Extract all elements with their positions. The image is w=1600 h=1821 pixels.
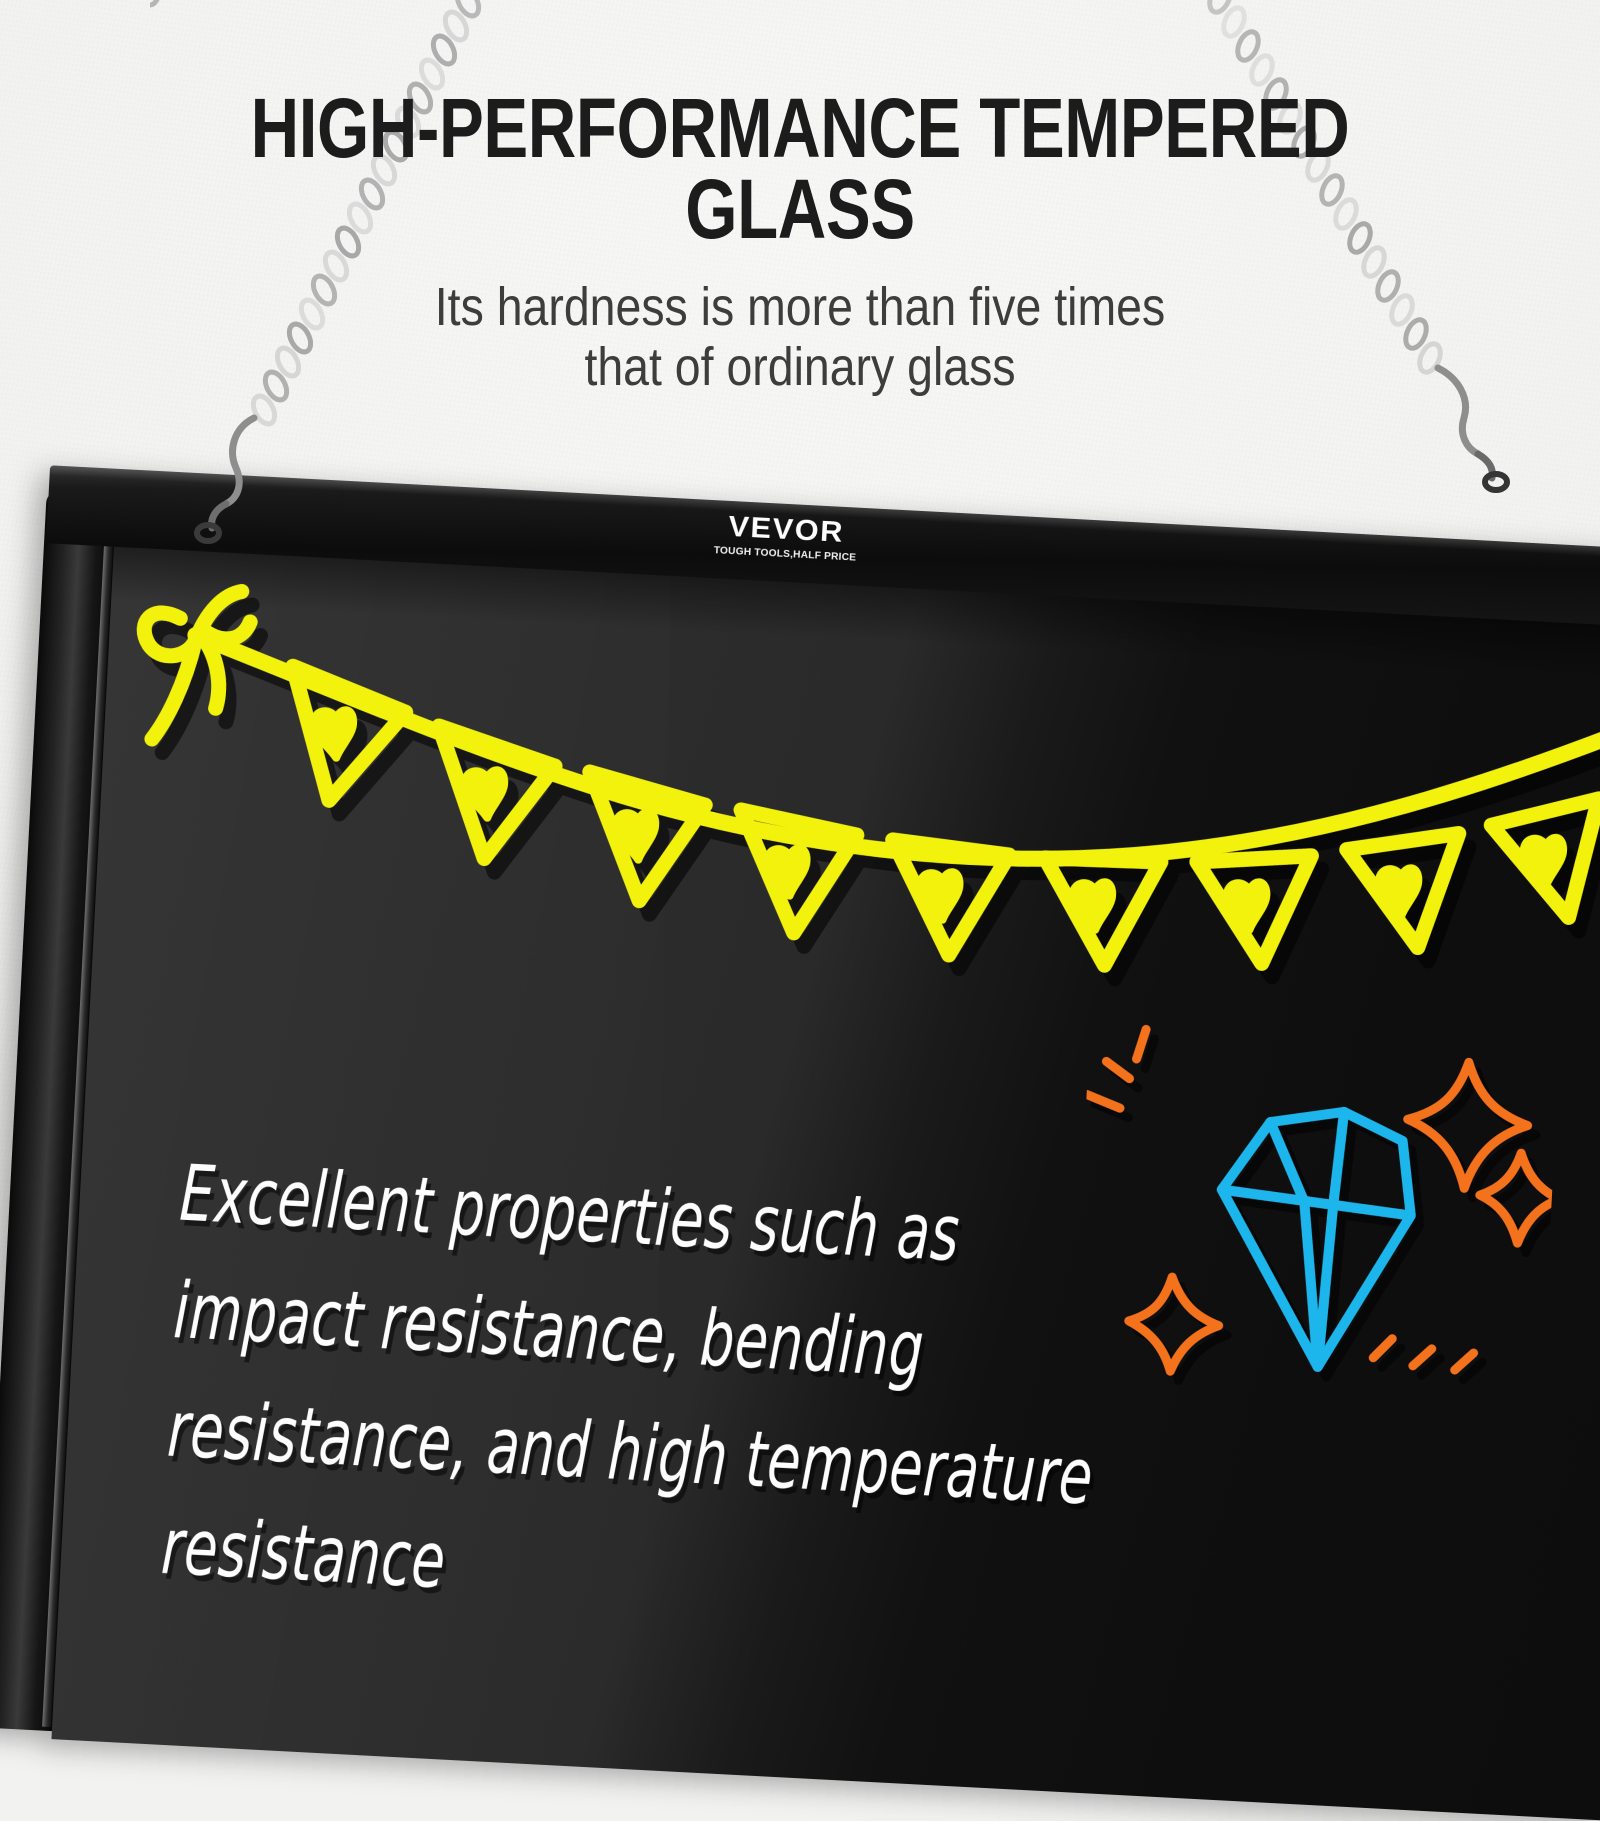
brand-logo: VEVOR TOUGH TOOLS,HALF PRICE: [711, 512, 860, 563]
brand-name: VEVOR: [708, 512, 865, 549]
chalkboard-product: Excellent properties such as impact resi…: [0, 461, 1600, 1808]
tempered-glass-panel: Excellent properties such as impact resi…: [51, 531, 1600, 1821]
chalk-handwriting-text: Excellent properties such as impact resi…: [159, 1135, 1214, 1660]
